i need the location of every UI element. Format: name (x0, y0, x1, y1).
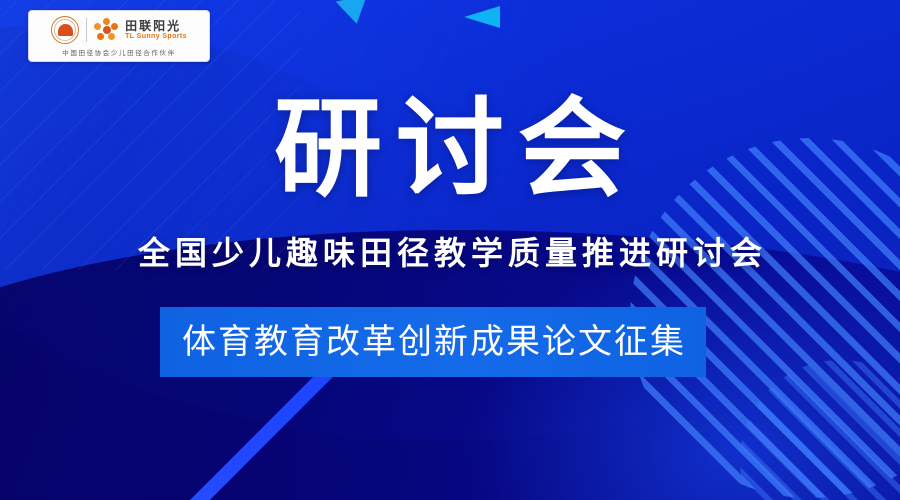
cyan-triangle-icon-right (464, 6, 500, 28)
logo-divider (86, 18, 87, 42)
cta-banner-label: 体育教育改革创新成果论文征集 (180, 325, 686, 359)
page-subtitle: 全国少儿趣味田径教学质量推进研讨会 (0, 236, 900, 271)
sunny-flower-icon (94, 18, 118, 42)
seminar-poster: 田联阳光 TL Sunny Sports 中国田径协会少儿田径合作伙伴 研讨会 … (0, 0, 900, 500)
sponsor-logo-card: 田联阳光 TL Sunny Sports 中国田径协会少儿田径合作伙伴 (28, 10, 210, 62)
brand-name-en: TL Sunny Sports (125, 33, 187, 40)
china-athletics-association-seal-icon (51, 16, 79, 44)
cta-banner[interactable]: 体育教育改革创新成果论文征集 (160, 307, 706, 377)
brand-name-cn: 田联阳光 (125, 20, 187, 32)
brand-block: 田联阳光 TL Sunny Sports (125, 20, 187, 40)
page-title: 研讨会 (0, 96, 900, 204)
seal-ring (54, 19, 76, 41)
logo-row: 田联阳光 TL Sunny Sports (51, 14, 187, 45)
logo-partner-line: 中国田径协会少儿田径合作伙伴 (62, 47, 175, 57)
